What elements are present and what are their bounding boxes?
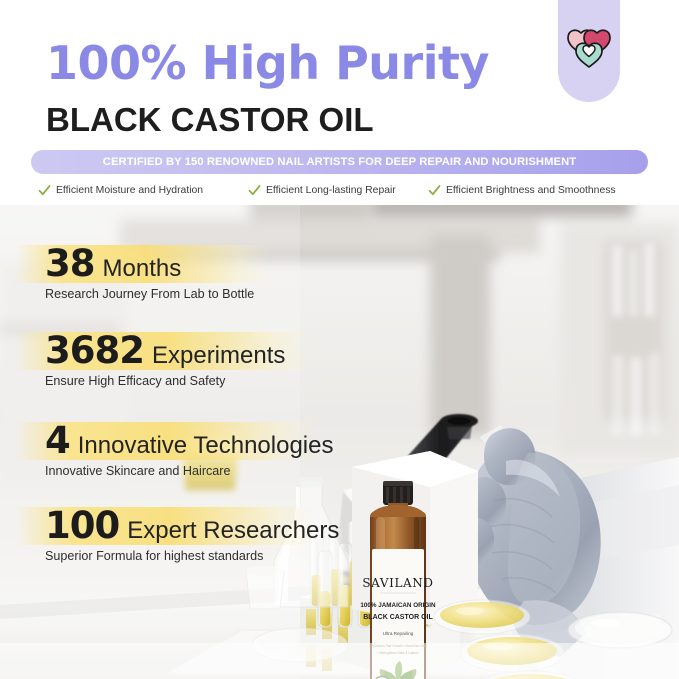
- feature-list: Efficient Moisture and Hydration Efficie…: [38, 184, 648, 197]
- feature-item: Efficient Long-lasting Repair: [248, 184, 428, 197]
- check-icon: [38, 184, 51, 197]
- stat-item: 100 Expert Researchers Superior Formula …: [0, 507, 339, 563]
- stat-line: 38 Months: [0, 245, 254, 283]
- feature-label: Efficient Moisture and Hydration: [56, 185, 203, 196]
- stat-line: 3682 Experiments: [0, 332, 285, 370]
- stat-unit: Months: [103, 250, 182, 288]
- stat-item: 4 Innovative Technologies Innovative Ski…: [0, 422, 334, 478]
- stat-unit: Expert Researchers: [127, 512, 339, 550]
- check-icon: [248, 184, 261, 197]
- stat-item: 38 Months Research Journey From Lab to B…: [0, 245, 254, 301]
- stat-number: 100: [45, 507, 119, 545]
- feature-label: Efficient Brightness and Smoothness: [446, 185, 616, 196]
- check-icon: [428, 184, 441, 197]
- stats-overlay: 38 Months Research Journey From Lab to B…: [0, 205, 679, 679]
- stat-line: 4 Innovative Technologies: [0, 422, 334, 460]
- stat-unit: Experiments: [152, 337, 285, 375]
- stat-unit: Innovative Technologies: [78, 427, 334, 465]
- stat-item: 3682 Experiments Ensure High Efficacy an…: [0, 332, 285, 388]
- page-subtitle: BLACK CASTOR OIL: [46, 103, 374, 136]
- product-infographic-page: SAVILAND 100% JAMAICAN ORIGIN BLACK CAST…: [0, 0, 679, 679]
- feature-item: Efficient Moisture and Hydration: [38, 184, 248, 197]
- certification-banner-label: CERTIFIED BY 150 RENOWNED NAIL ARTISTS F…: [103, 156, 576, 168]
- stat-description: Research Journey From Lab to Bottle: [0, 287, 254, 301]
- feature-item: Efficient Brightness and Smoothness: [428, 184, 616, 197]
- stat-number: 3682: [45, 332, 144, 370]
- stat-number: 4: [45, 422, 70, 460]
- stat-number: 38: [45, 245, 95, 283]
- page-title: 100% High Purity: [46, 40, 489, 86]
- stat-description: Ensure High Efficacy and Safety: [0, 374, 285, 388]
- stat-line: 100 Expert Researchers: [0, 507, 339, 545]
- brand-badge: [558, 0, 620, 102]
- feature-label: Efficient Long-lasting Repair: [266, 185, 396, 196]
- stat-description: Innovative Skincare and Haircare: [0, 464, 334, 478]
- stat-description: Superior Formula for highest standards: [0, 549, 339, 563]
- header-section: 100% High Purity BLACK CASTOR OIL CERTIF…: [0, 0, 679, 205]
- saviland-flower-heart-logo: [566, 27, 612, 69]
- certification-banner: CERTIFIED BY 150 RENOWNED NAIL ARTISTS F…: [31, 150, 648, 174]
